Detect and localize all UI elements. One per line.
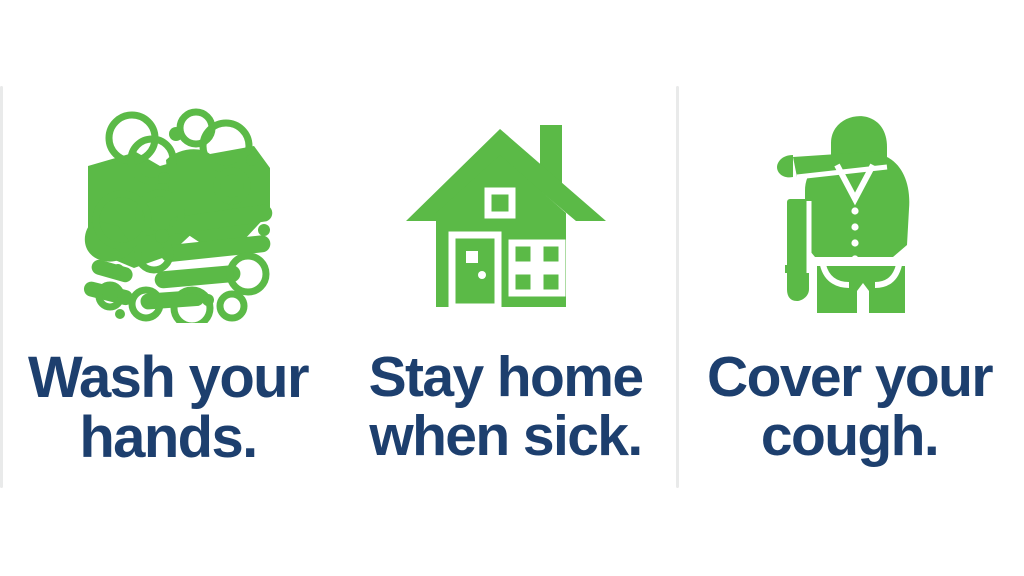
cough-into-elbow-icon — [775, 113, 925, 318]
icon-area-wash-hands — [0, 100, 336, 330]
washing-hands-icon — [48, 108, 288, 323]
panel-cover-cough: Cover your cough. — [675, 0, 1024, 576]
caption-wash-hands: Wash your hands. — [0, 348, 336, 467]
icon-area-stay-home — [336, 100, 675, 330]
panel-wash-hands: Wash your hands. — [0, 0, 336, 576]
health-guidance-poster: Wash your hands. — [0, 0, 1024, 576]
panel-stay-home: Stay home when sick. — [336, 0, 675, 576]
house-icon — [400, 117, 612, 313]
icon-area-cover-cough — [675, 100, 1024, 330]
caption-stay-home: Stay home when sick. — [336, 348, 675, 465]
caption-cover-cough: Cover your cough. — [675, 348, 1024, 465]
